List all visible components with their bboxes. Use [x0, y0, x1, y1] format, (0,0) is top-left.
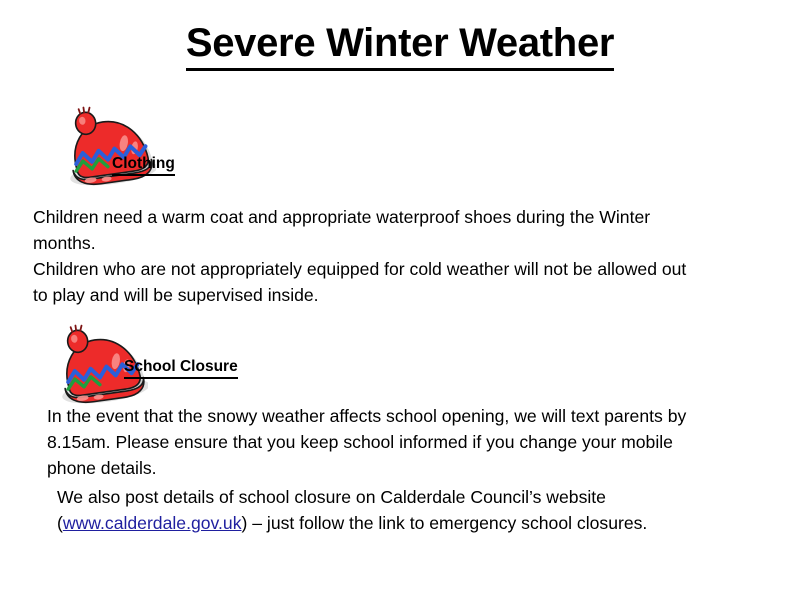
- paragraph-clothing-line-2: months.: [33, 230, 763, 256]
- paragraph-school-closure-line-3: phone details.: [47, 455, 767, 481]
- paragraph-clothing-line-3: Children who are not appropriately equip…: [33, 256, 763, 282]
- paragraph-school-closure: In the event that the snowy weather affe…: [47, 403, 767, 481]
- paragraph-school-closure-line-2: 8.15am. Please ensure that you keep scho…: [47, 429, 767, 455]
- website-note-suffix: ) – just follow the link to emergency sc…: [242, 513, 648, 533]
- website-note-line-2: (www.calderdale.gov.uk) – just follow th…: [57, 510, 767, 536]
- slide-canvas: Severe Winter Weather: [0, 0, 800, 600]
- paragraph-website-note: We also post details of school closure o…: [57, 484, 767, 536]
- paragraph-clothing-line-1: Children need a warm coat and appropriat…: [33, 204, 763, 230]
- section-heading-clothing-text: Clothing: [112, 155, 175, 176]
- paragraph-school-closure-line-1: In the event that the snowy weather affe…: [47, 403, 767, 429]
- paragraph-clothing-line-4: to play and will be supervised inside.: [33, 282, 763, 308]
- paragraph-clothing: Children need a warm coat and appropriat…: [33, 204, 763, 308]
- calderdale-website-link[interactable]: www.calderdale.gov.uk: [63, 513, 242, 533]
- page-title-text: Severe Winter Weather: [186, 22, 614, 71]
- section-heading-school-closure-text: School Closure: [124, 358, 238, 379]
- section-heading-school-closure: School Closure: [124, 358, 238, 379]
- page-title: Severe Winter Weather: [0, 22, 800, 71]
- section-heading-clothing: Clothing: [112, 155, 175, 176]
- website-note-line-1: We also post details of school closure o…: [57, 484, 767, 510]
